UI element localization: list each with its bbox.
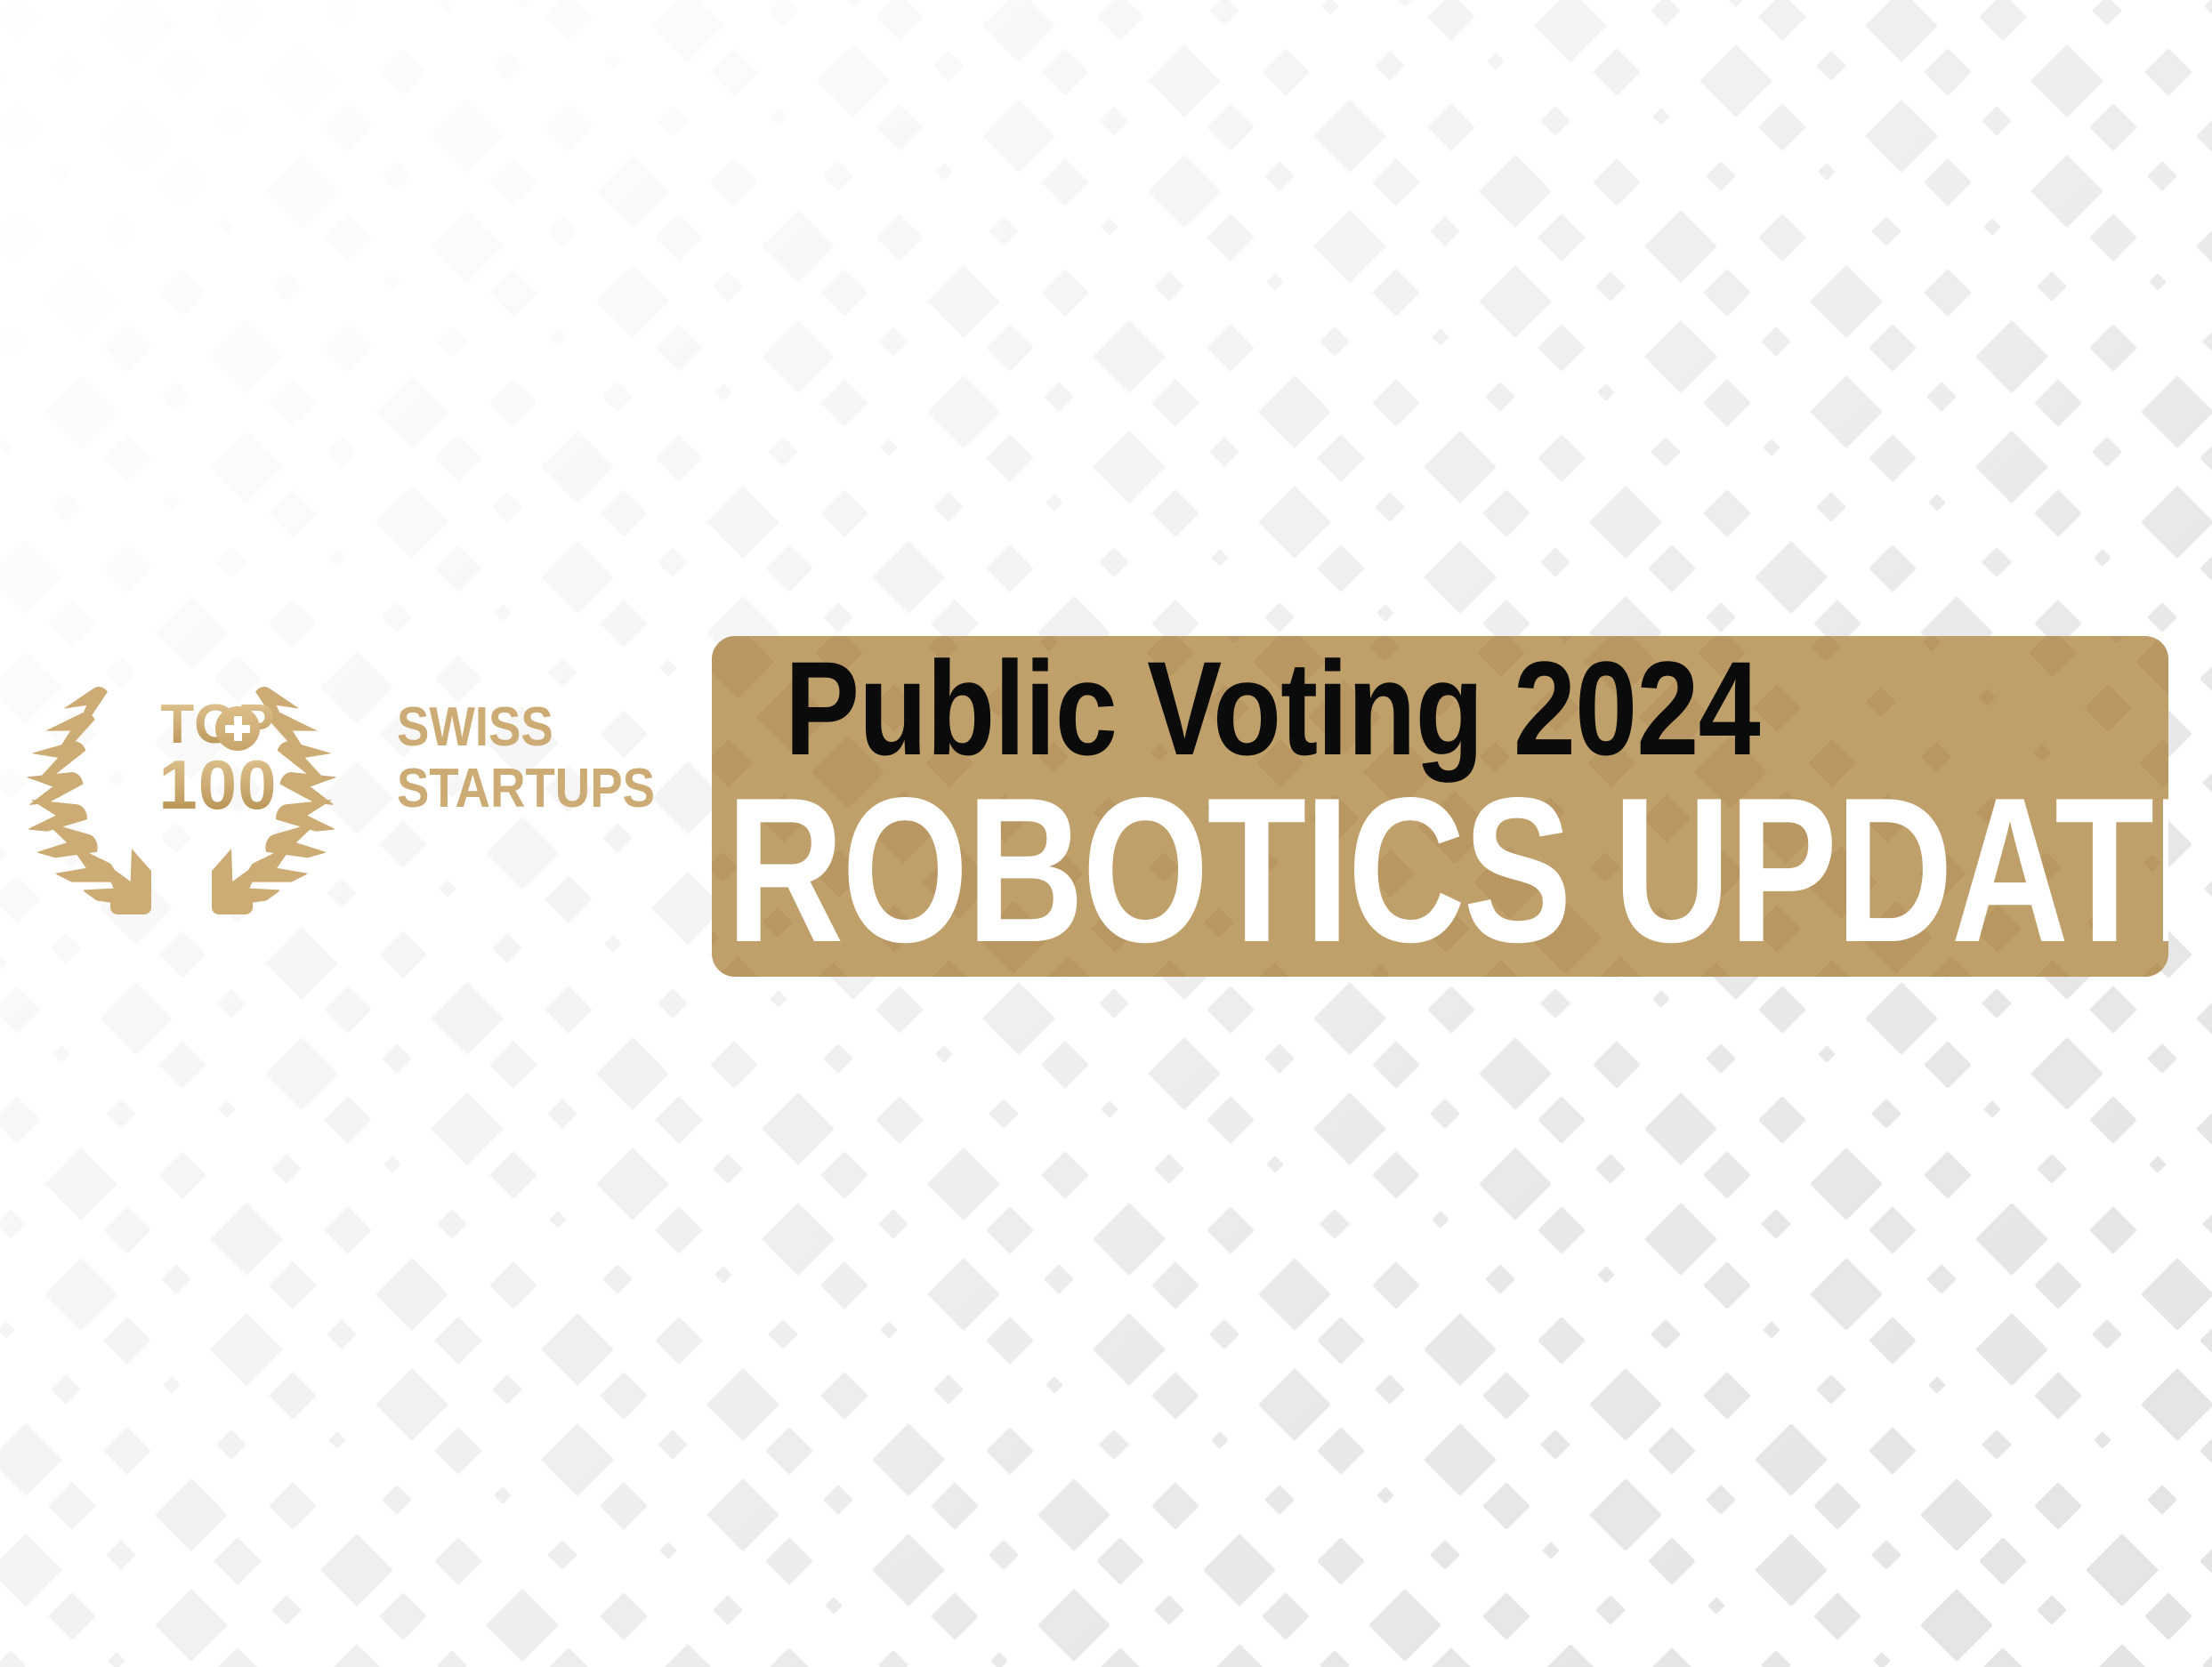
top-100-swiss-startups-logo: TOP 100 SWISS STARTUPS	[12, 692, 715, 906]
page-subtitle: ROBOTICS UPDATE	[726, 768, 2168, 974]
title-card: Public Voting 2024 ROBOTICS UPDATE	[712, 636, 2168, 977]
top-100-wordmark: TOP 100	[107, 699, 329, 817]
logo-swiss-text: SWISS	[397, 701, 679, 755]
logo-startups-text: STARTUPS	[397, 762, 679, 817]
logo-rank-text: 100	[107, 752, 329, 817]
poster-canvas: TOP 100 SWISS STARTUPS Public Voting 202…	[0, 0, 2212, 1667]
logo-top-text: TOP	[160, 699, 275, 752]
swiss-cross-icon	[215, 706, 260, 751]
swiss-startups-wordmark: SWISS STARTUPS	[397, 701, 717, 817]
title-card-text: Public Voting 2024 ROBOTICS UPDATE	[712, 636, 2168, 977]
